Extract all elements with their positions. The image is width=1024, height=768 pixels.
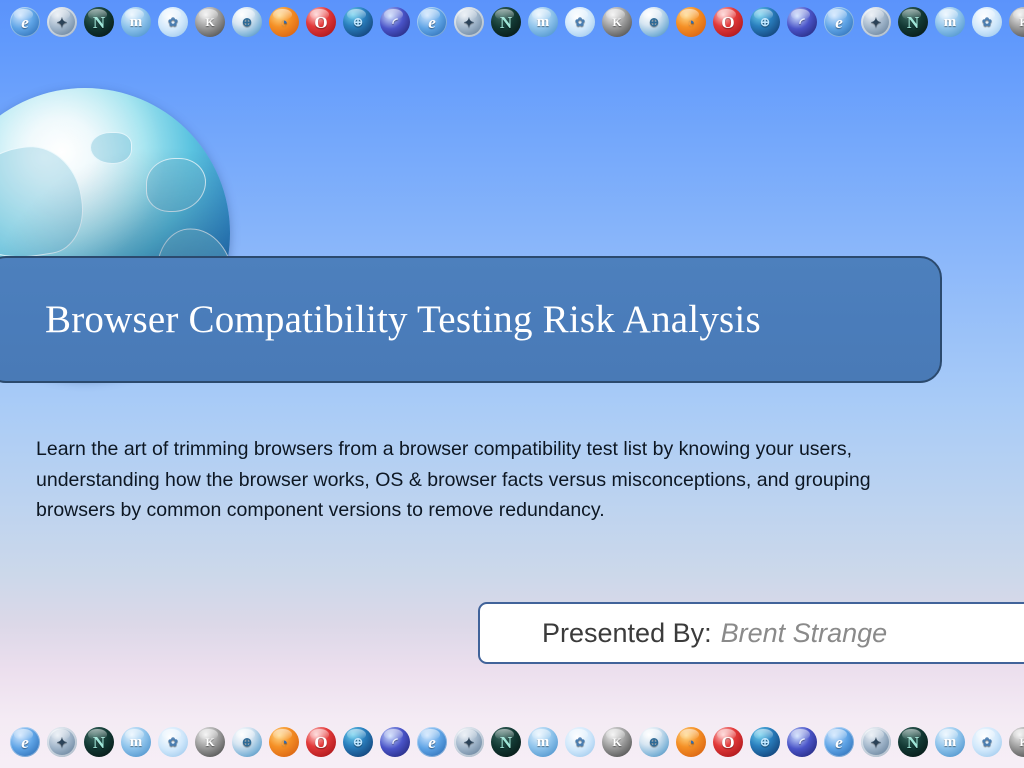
konqueror-icon: K xyxy=(602,7,632,37)
browser-globe-grey-icon: ⊕ xyxy=(232,727,262,757)
opera-icon: O xyxy=(306,727,336,757)
flock-icon: ✿ xyxy=(565,727,595,757)
flock-icon: ✿ xyxy=(972,7,1002,37)
netscape-icon: N xyxy=(84,727,114,757)
top-browser-icon-strip: e✦Nm✿K⊕◔O⊕◜e✦Nm✿K⊕◔O⊕◜e✦Nm✿K xyxy=(0,0,1024,44)
page-title: Browser Compatibility Testing Risk Analy… xyxy=(45,297,761,342)
konqueror-icon: K xyxy=(1009,727,1024,757)
safari-icon: ✦ xyxy=(47,727,77,757)
netscape-icon: N xyxy=(491,7,521,37)
safari-icon: ✦ xyxy=(47,7,77,37)
bottom-browser-icon-strip: e✦Nm✿K⊕◔O⊕◜e✦Nm✿K⊕◔O⊕◜e✦Nm✿K xyxy=(0,716,1024,768)
maxthon-icon: m xyxy=(935,727,965,757)
firefox-icon: ◔ xyxy=(676,727,706,757)
firefox-icon: ◔ xyxy=(676,7,706,37)
browser-globe-grey-icon: ⊕ xyxy=(639,727,669,757)
flock-icon: ✿ xyxy=(565,7,595,37)
maxthon-icon: m xyxy=(121,7,151,37)
presentation-slide: e✦Nm✿K⊕◔O⊕◜e✦Nm✿K⊕◔O⊕◜e✦Nm✿K Browser Com… xyxy=(0,0,1024,768)
safari-icon: ✦ xyxy=(454,727,484,757)
konqueror-icon: K xyxy=(195,727,225,757)
safari-icon: ✦ xyxy=(454,7,484,37)
konqueror-icon: K xyxy=(602,727,632,757)
internet-explorer-icon: e xyxy=(417,727,447,757)
slide-title-banner: Browser Compatibility Testing Risk Analy… xyxy=(0,256,942,383)
internet-explorer-icon: e xyxy=(10,727,40,757)
browser-globe-grey-icon: ⊕ xyxy=(232,7,262,37)
presenter-name: Brent Strange xyxy=(721,618,888,649)
internet-explorer-icon: e xyxy=(824,727,854,757)
browser-globe-blue-icon: ⊕ xyxy=(750,727,780,757)
browser-globe-grey-icon: ⊕ xyxy=(639,7,669,37)
presented-by-label: Presented By: xyxy=(542,618,712,649)
firefox-icon: ◔ xyxy=(269,7,299,37)
safari-icon: ✦ xyxy=(861,7,891,37)
browser-globe-blue-icon: ⊕ xyxy=(343,727,373,757)
firefox-icon: ◔ xyxy=(269,727,299,757)
browser-globe-blue-icon: ⊕ xyxy=(750,7,780,37)
seamonkey-icon: ◜ xyxy=(787,7,817,37)
internet-explorer-icon: e xyxy=(417,7,447,37)
netscape-icon: N xyxy=(84,7,114,37)
slide-body-text: Learn the art of trimming browsers from … xyxy=(36,434,931,526)
maxthon-icon: m xyxy=(935,7,965,37)
netscape-icon: N xyxy=(491,727,521,757)
konqueror-icon: K xyxy=(195,7,225,37)
konqueror-icon: K xyxy=(1009,7,1024,37)
netscape-icon: N xyxy=(898,727,928,757)
browser-globe-blue-icon: ⊕ xyxy=(343,7,373,37)
opera-icon: O xyxy=(713,727,743,757)
netscape-icon: N xyxy=(898,7,928,37)
flock-icon: ✿ xyxy=(972,727,1002,757)
maxthon-icon: m xyxy=(121,727,151,757)
safari-icon: ✦ xyxy=(861,727,891,757)
seamonkey-icon: ◜ xyxy=(380,727,410,757)
maxthon-icon: m xyxy=(528,7,558,37)
seamonkey-icon: ◜ xyxy=(787,727,817,757)
flock-icon: ✿ xyxy=(158,727,188,757)
opera-icon: O xyxy=(713,7,743,37)
maxthon-icon: m xyxy=(528,727,558,757)
internet-explorer-icon: e xyxy=(824,7,854,37)
seamonkey-icon: ◜ xyxy=(380,7,410,37)
internet-explorer-icon: e xyxy=(10,7,40,37)
flock-icon: ✿ xyxy=(158,7,188,37)
presented-by-box: Presented By: Brent Strange xyxy=(478,602,1024,664)
opera-icon: O xyxy=(306,7,336,37)
